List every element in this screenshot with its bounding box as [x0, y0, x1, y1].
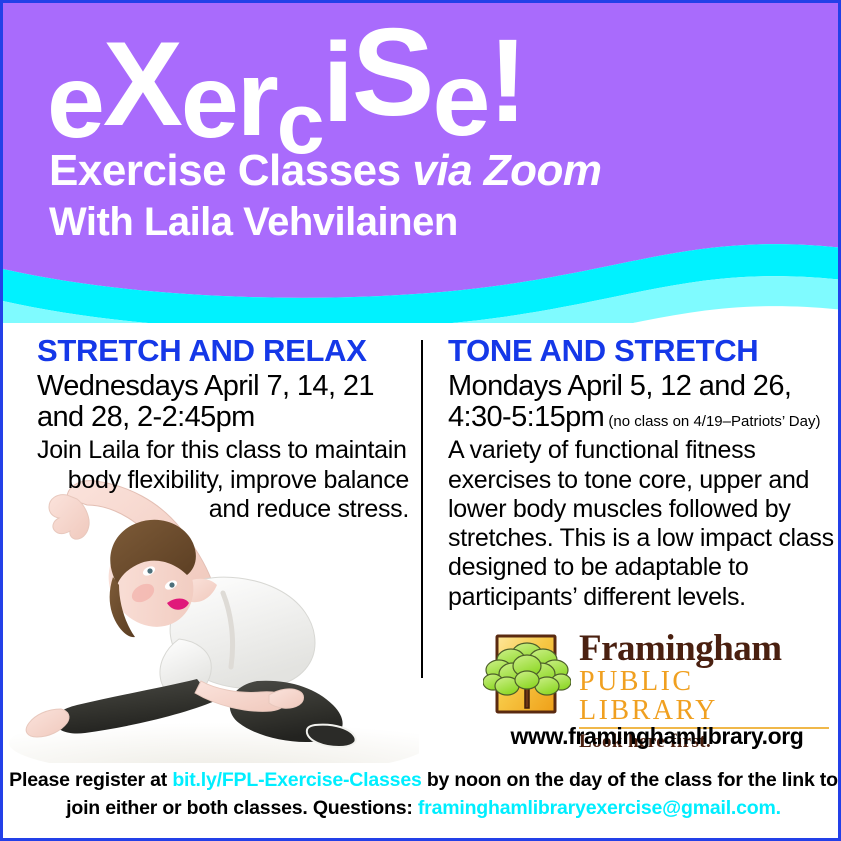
right-hand: [269, 689, 304, 708]
shirt-sleeve: [160, 639, 211, 697]
lower-arm: [195, 681, 285, 711]
shirt-fold: [223, 593, 233, 667]
poster-root: eXerciSe! Exercise Classes via Zoom With…: [0, 0, 841, 841]
bare-foot: [26, 709, 69, 737]
blush: [129, 580, 158, 606]
class-column-tone-and-stretch: TONE AND STRETCH Mondays April 5, 12 and…: [448, 335, 838, 612]
class-description-tone-and-stretch: A variety of functional fitness exercise…: [448, 436, 838, 612]
iris-right: [169, 582, 174, 587]
hair: [110, 520, 196, 585]
lips: [167, 599, 189, 610]
tree-icon: [483, 630, 571, 718]
class-schedule-note: (no class on 4/19–Patriots’ Day): [604, 413, 820, 430]
footer-text-part1: Please register at: [9, 769, 172, 791]
logo-name: Framingham: [579, 630, 829, 667]
column-divider: [421, 340, 423, 678]
header-wave-graphic: [3, 3, 841, 323]
bent-leg: [230, 681, 343, 742]
contact-email-link[interactable]: framinghamlibraryexercise@gmail.com.: [418, 797, 781, 819]
class-schedule-tone-and-stretch: Mondays April 5, 12 and 26, 4:30-5:15pm …: [448, 371, 838, 435]
library-logo[interactable]: Framingham PUBLIC LIBRARY Look here firs…: [483, 630, 828, 750]
logo-subtitle: PUBLIC LIBRARY: [579, 667, 829, 729]
class-column-stretch-and-relax: STRETCH AND RELAX Wednesdays April 7, 14…: [37, 335, 409, 524]
eye-right: [163, 578, 178, 591]
registration-link[interactable]: bit.ly/FPL-Exercise-Classes: [172, 769, 421, 791]
class-description-first-line: Join Laila for this class to maintain: [37, 436, 409, 465]
neck: [185, 579, 217, 602]
head: [91, 522, 211, 644]
shoe: [307, 725, 356, 747]
class-description-stretch-and-relax: Join Laila for this class to maintain bo…: [37, 436, 409, 524]
iris-left: [147, 568, 152, 573]
class-heading-stretch-and-relax: STRETCH AND RELAX: [37, 335, 409, 368]
class-heading-tone-and-stretch: TONE AND STRETCH: [448, 335, 838, 368]
class-description-rest: body flexibility, improve balance and re…: [37, 466, 409, 525]
logo-row: Framingham PUBLIC LIBRARY Look here firs…: [483, 630, 828, 718]
registration-footer: Please register at bit.ly/FPL-Exercise-C…: [3, 766, 841, 823]
extended-leg: [55, 679, 215, 734]
header-band: [3, 3, 841, 323]
class-schedule-stretch-and-relax: Wednesdays April 7, 14, 21 and 28, 2-2:4…: [37, 371, 409, 435]
torso-shirt: [170, 577, 315, 688]
library-website-url[interactable]: www.framinghamlibrary.org: [487, 723, 827, 750]
tree-icon-svg: [483, 630, 571, 718]
hair-side: [110, 577, 135, 637]
eye-left: [141, 564, 156, 577]
